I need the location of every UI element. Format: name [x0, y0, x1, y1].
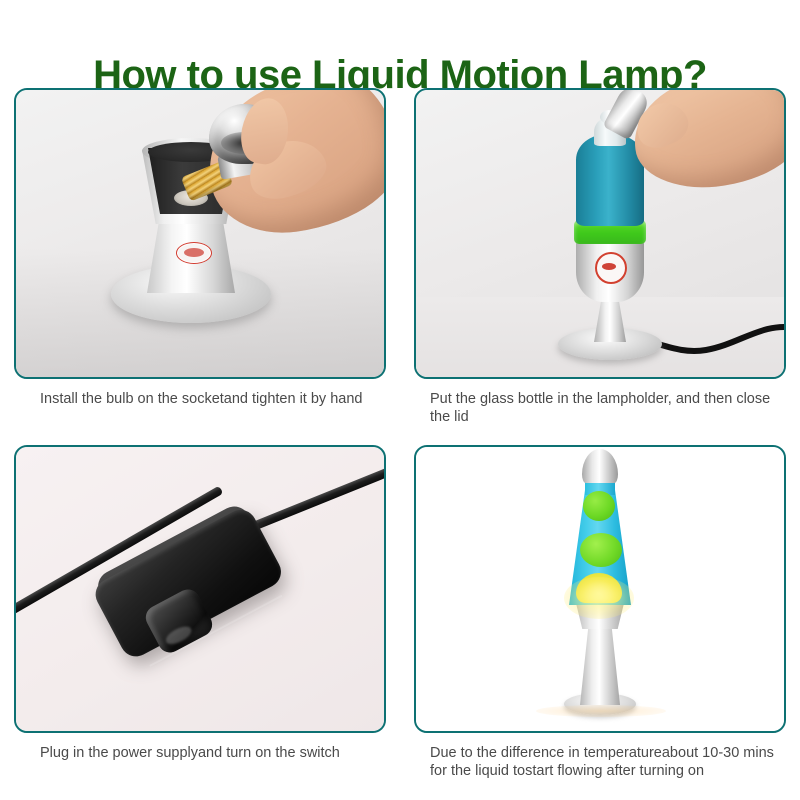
step-card-1: Install the bulb on the socketand tighte… — [14, 88, 386, 409]
step-3-caption: Plug in the power supplyand turn on the … — [14, 745, 386, 763]
silver-cap — [582, 449, 618, 483]
step-card-4: Due to the difference in temperatureabou… — [414, 445, 786, 781]
inline-switch — [76, 476, 306, 692]
red-sticker — [176, 242, 212, 264]
steps-grid: Install the bulb on the socketand tighte… — [14, 88, 786, 788]
bulb-glow — [564, 577, 634, 619]
step-card-2: Put the glass bottle in the lampholder, … — [414, 88, 786, 427]
step-4-photo — [414, 445, 786, 733]
step-1-photo — [14, 88, 386, 379]
step-3-photo — [14, 445, 386, 733]
infographic-page: How to use Liquid Motion Lamp? — [0, 0, 800, 800]
teal-glass-bottle — [576, 134, 644, 226]
red-sticker — [595, 252, 627, 284]
step-4-caption: Due to the difference in temperatureabou… — [414, 745, 786, 781]
scene-lit-lava-lamp — [416, 447, 784, 731]
green-wax-blob-middle — [580, 533, 622, 567]
step-card-3: Plug in the power supplyand turn on the … — [14, 445, 386, 763]
scene-bulb-and-socket — [16, 90, 384, 377]
floor-glow — [536, 705, 666, 717]
step-2-caption: Put the glass bottle in the lampholder, … — [414, 391, 786, 427]
step-2-photo — [414, 88, 786, 379]
rocker-button — [142, 585, 217, 656]
scene-bottle-into-lampholder — [416, 90, 784, 377]
green-wax-blob-top — [583, 491, 615, 521]
step-1-caption: Install the bulb on the socketand tighte… — [14, 391, 386, 409]
scene-inline-power-switch — [16, 447, 384, 731]
